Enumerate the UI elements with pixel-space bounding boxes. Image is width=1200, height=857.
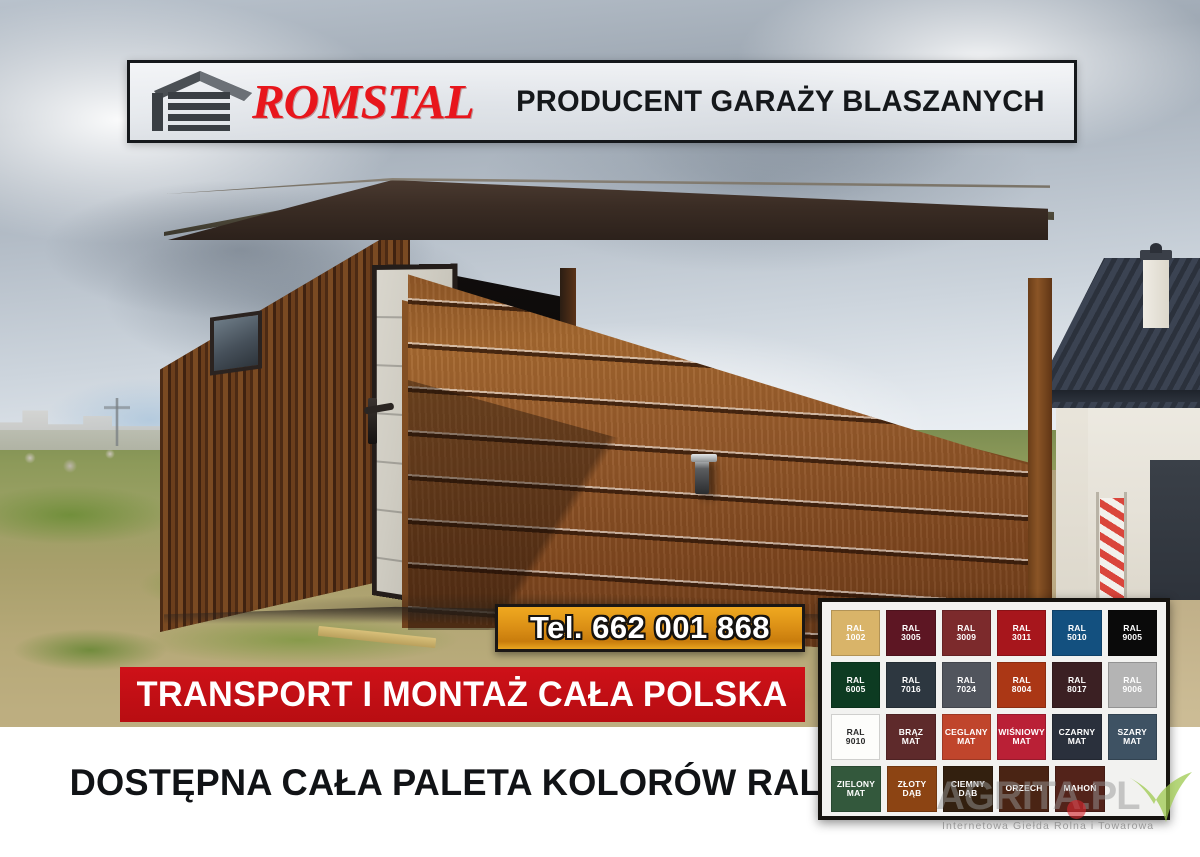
swatch-label-line2: 9010 [846, 737, 866, 746]
swatch-label-line2: 7024 [956, 685, 976, 694]
barrier-post [1124, 492, 1127, 610]
swatch-label-line2: MAT [1012, 737, 1030, 746]
ral-color-palette[interactable]: RAL1002RAL3005RAL3009RAL3011RAL5010RAL90… [818, 598, 1170, 820]
color-swatch[interactable]: RAL5010 [1052, 610, 1101, 656]
safety-barrier-tape [1100, 498, 1124, 606]
color-swatch[interactable]: RAL3009 [942, 610, 991, 656]
garage-window [210, 310, 262, 375]
garage-house-icon [148, 71, 258, 133]
color-swatch[interactable]: ZIELONYMAT [831, 766, 881, 812]
swatch-label-line2: DĄB [958, 789, 977, 798]
swatch-label-line2: 3011 [1012, 633, 1031, 642]
barrier-post [1096, 492, 1099, 610]
palette-row: ZIELONYMATZŁOTYDĄBCIEMNYDĄBORZECHMAHOŃ [831, 766, 1157, 812]
color-swatch[interactable]: CIEMNYDĄB [943, 766, 993, 812]
palette-row: RAL9010BRĄZMATCEGLANYMATWIŚNIOWYMATCZARN… [831, 714, 1157, 760]
garage-corner-post [1028, 278, 1052, 628]
garage-photo-subject [150, 150, 1030, 620]
color-swatch[interactable]: RAL3011 [997, 610, 1046, 656]
swatch-label-line2: 9005 [1122, 633, 1142, 642]
swatch-label-line2: MAT [902, 737, 920, 746]
color-swatch[interactable]: MAHOŃ [1055, 766, 1105, 812]
swatch-label-line2: DĄB [902, 789, 921, 798]
color-swatch[interactable]: ZŁOTYDĄB [887, 766, 937, 812]
color-swatch[interactable]: RAL8017 [1052, 662, 1101, 708]
swatch-label-line2: MAT [957, 737, 975, 746]
logo-banner: ROMSTAL PRODUCENT GARAŻY BLASZANYCH [127, 60, 1077, 143]
swatch-label-line2: 6005 [846, 685, 866, 694]
palette-row: RAL1002RAL3005RAL3009RAL3011RAL5010RAL90… [831, 610, 1157, 656]
chimney [1143, 258, 1169, 328]
color-swatch[interactable]: WIŚNIOWYMAT [997, 714, 1046, 760]
garage-roof [168, 180, 1048, 240]
swatch-label-line2: 9006 [1122, 685, 1142, 694]
swatch-label-line2: 5010 [1067, 633, 1087, 642]
swatch-label-line1: ORZECH [1005, 784, 1042, 793]
palette-row: RAL6005RAL7016RAL7024RAL8004RAL8017RAL90… [831, 662, 1157, 708]
color-swatch[interactable]: RAL1002 [831, 610, 880, 656]
swatch-label-line2: 3005 [901, 633, 921, 642]
color-swatch[interactable]: RAL9006 [1108, 662, 1157, 708]
color-swatch[interactable]: SZARYMAT [1108, 714, 1157, 760]
brand-wordmark: ROMSTAL [252, 73, 474, 130]
color-swatch[interactable]: ORZECH [999, 766, 1049, 812]
swatch-label-line2: 1002 [846, 633, 866, 642]
phone-banner[interactable]: Tel. 662 001 868 [495, 604, 805, 652]
swatch-label-line2: 8017 [1067, 685, 1087, 694]
swatch-label-line2: MAT [847, 789, 865, 798]
company-tagline: PRODUCENT GARAŻY BLASZANYCH [516, 85, 1045, 119]
color-swatch[interactable]: RAL3005 [886, 610, 935, 656]
color-swatch[interactable]: BRĄZMAT [886, 714, 935, 760]
transport-banner: TRANSPORT I MONTAŻ CAŁA POLSKA [120, 667, 805, 722]
garage-door-lock-handle [691, 454, 717, 462]
chimney-pipe [1150, 243, 1162, 253]
color-swatch[interactable]: RAL9010 [831, 714, 880, 760]
color-swatch[interactable]: RAL9005 [1108, 610, 1157, 656]
color-swatch[interactable]: RAL6005 [831, 662, 880, 708]
swatch-label-line2: 7016 [901, 685, 921, 694]
swatch-label-line2: MAT [1068, 737, 1086, 746]
swatch-label-line2: MAT [1123, 737, 1141, 746]
garage-door-lock [695, 458, 709, 494]
power-pylon [104, 398, 130, 446]
swatch-label-line2: 3009 [956, 633, 976, 642]
transport-banner-label: TRANSPORT I MONTAŻ CAŁA POLSKA [137, 675, 788, 715]
bottom-bar-label: DOSTĘPNA CAŁA PALETA KOLORÓW RAL [70, 762, 815, 804]
color-swatch[interactable]: CEGLANYMAT [942, 714, 991, 760]
swatch-label-line2: 8004 [1012, 685, 1032, 694]
color-swatch[interactable]: RAL8004 [997, 662, 1046, 708]
neighbour-garage-door [1150, 460, 1200, 600]
color-swatch[interactable]: RAL7024 [942, 662, 991, 708]
swatch-label-line1: MAHOŃ [1063, 784, 1096, 793]
color-swatch[interactable]: CZARNYMAT [1052, 714, 1101, 760]
screenshot-canvas: ROMSTAL PRODUCENT GARAŻY BLASZANYCH Tel.… [0, 0, 1200, 857]
color-swatch[interactable]: RAL7016 [886, 662, 935, 708]
phone-number-label: Tel. 662 001 868 [530, 610, 770, 646]
